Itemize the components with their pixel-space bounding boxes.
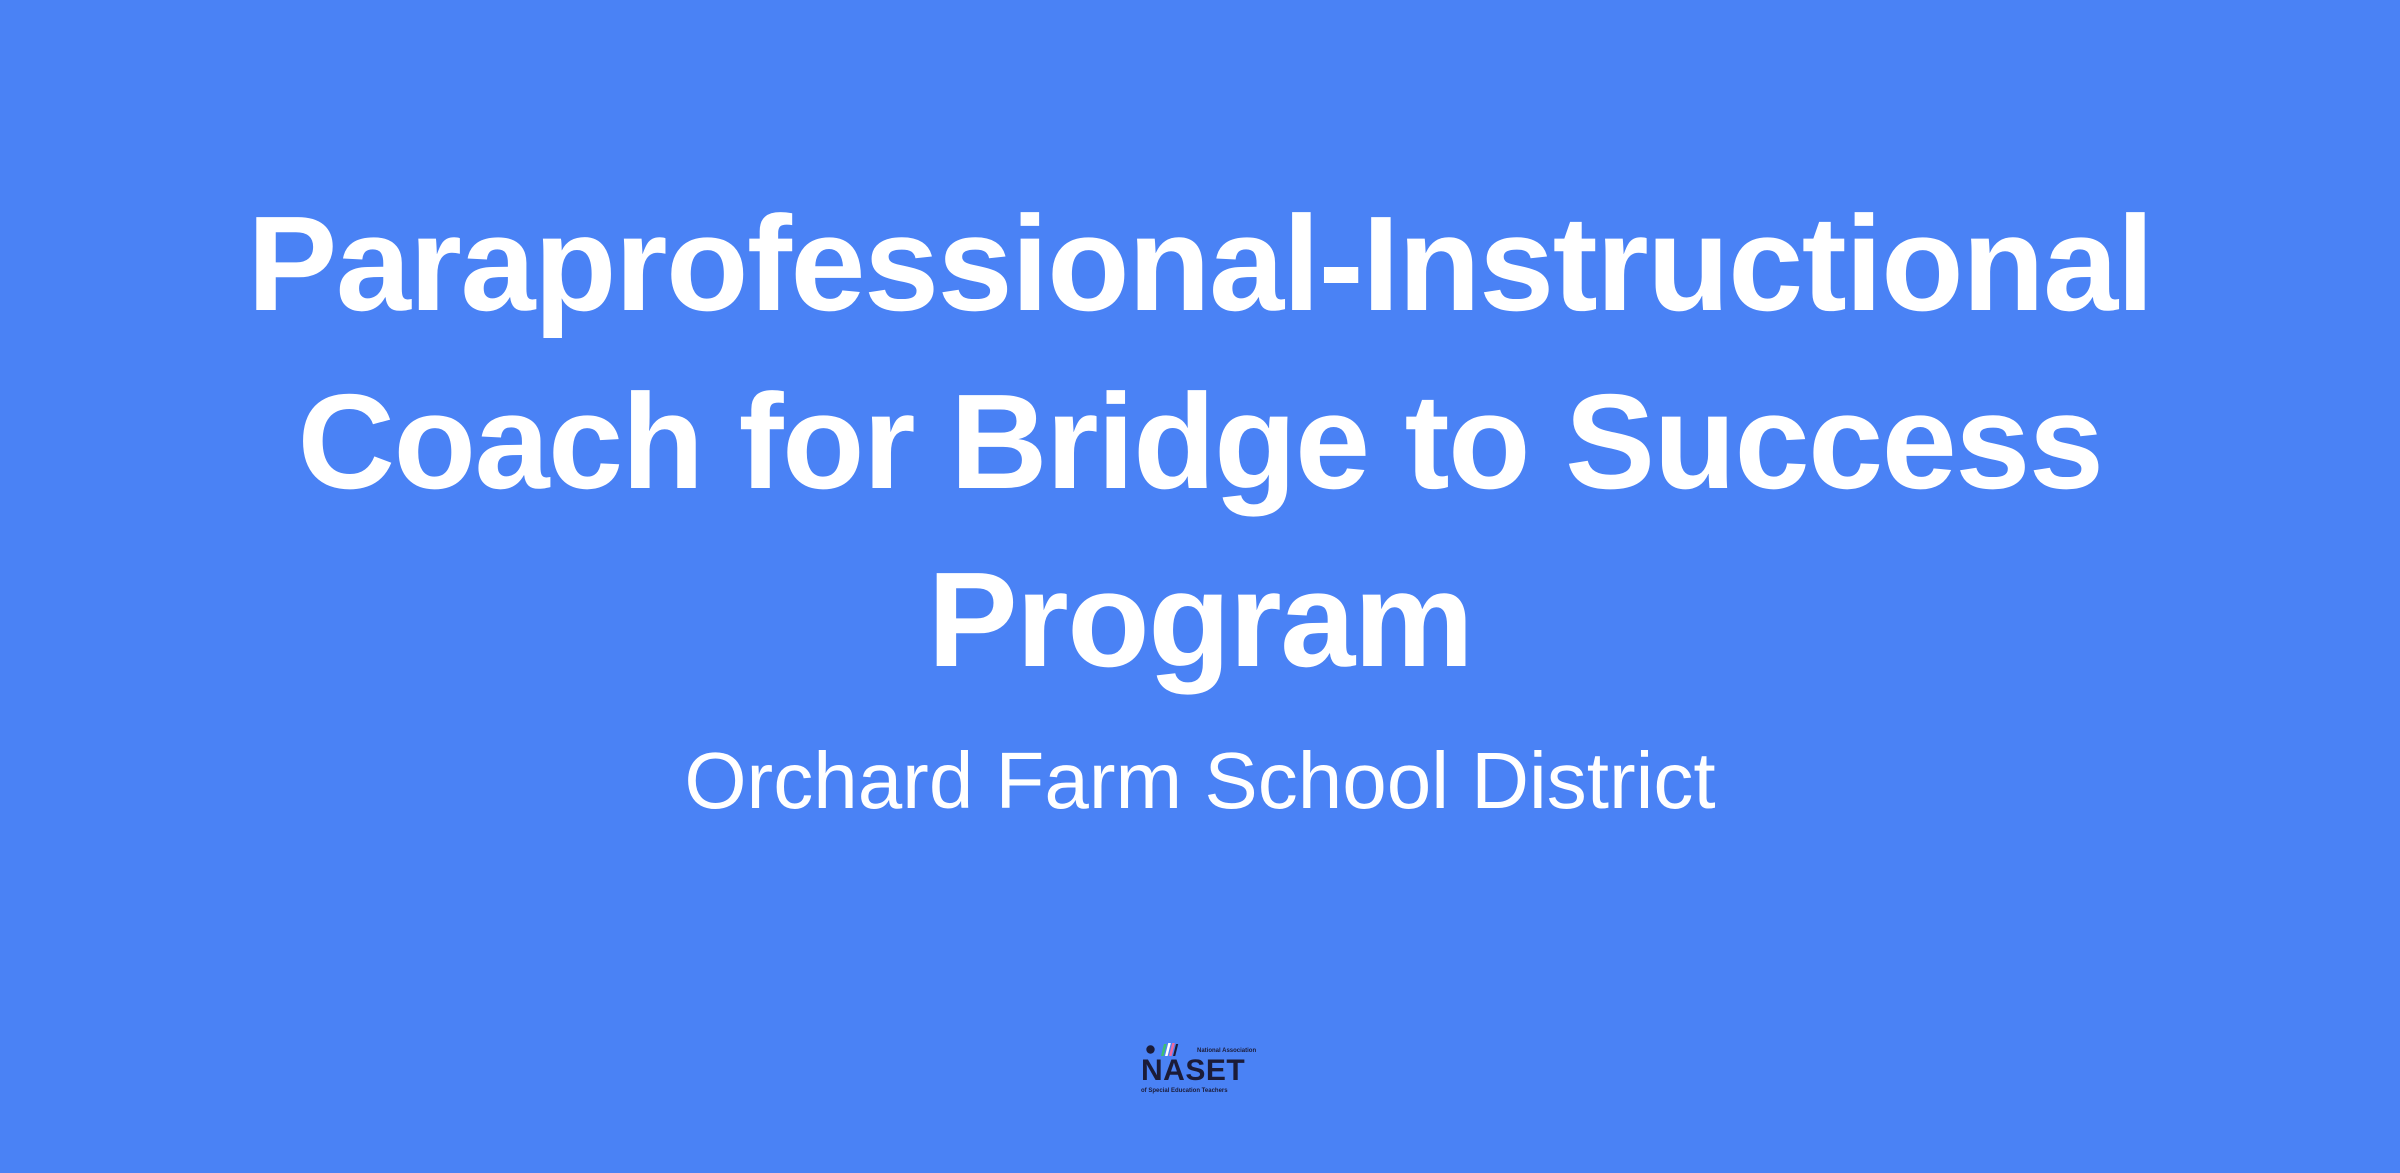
title-line-3: Program	[85, 531, 2315, 709]
title-line-2: Coach for Bridge to Success	[85, 353, 2315, 531]
svg-text:of Special Education Teachers: of Special Education Teachers	[1141, 1088, 1228, 1094]
svg-text:NASET: NASET	[1141, 1054, 1245, 1087]
svg-text:National Association: National Association	[1197, 1048, 1256, 1054]
naset-logo: NASET National Association of Special Ed…	[1135, 1040, 1265, 1098]
title-slide: Paraprofessional-Instructional Coach for…	[0, 0, 2400, 1173]
page-title: Paraprofessional-Instructional Coach for…	[85, 175, 2315, 709]
title-line-1: Paraprofessional-Instructional	[85, 175, 2315, 353]
subtitle: Orchard Farm School District	[684, 733, 1715, 829]
naset-logo-icon: NASET National Association of Special Ed…	[1135, 1040, 1265, 1098]
